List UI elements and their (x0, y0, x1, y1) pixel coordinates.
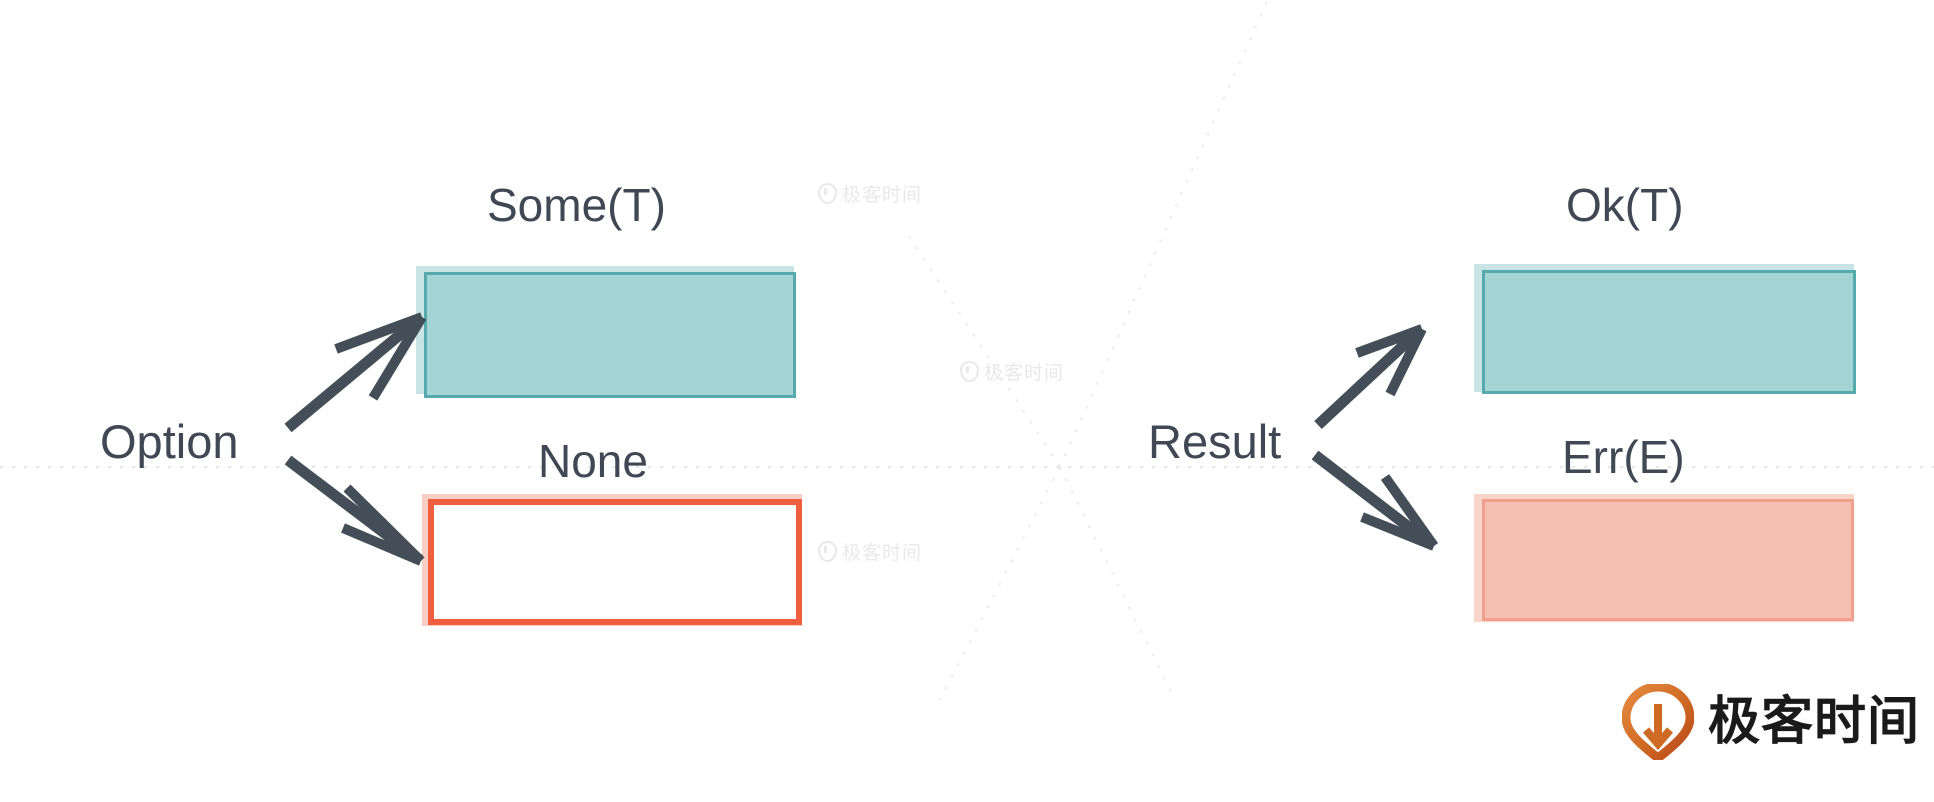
none-label: None (538, 434, 648, 488)
arrow-option-none-shaft (288, 460, 420, 560)
arrow-result-ok-barb-lower (1390, 329, 1422, 394)
watermark-guides (0, 0, 1934, 802)
brand-logo: 极客时间 (1622, 684, 1920, 760)
arrow-result-ok-shaft (1318, 330, 1420, 425)
brand-name: 极客时间 (1708, 696, 1920, 748)
arrow-option-some-barb-upper (336, 317, 422, 349)
arrow-option-none-barb-upper (347, 488, 421, 561)
ok-box (1482, 270, 1856, 394)
diagram-canvas: 极客时间 极客时间 极客时间 极客时间 (0, 0, 1934, 802)
watermark-pin-icon (818, 183, 837, 204)
arrow-result-err-barb-upper (1385, 477, 1434, 546)
arrow-option-some-barb-lower (373, 317, 422, 398)
none-box (428, 499, 802, 625)
watermark-pin-icon (960, 361, 979, 382)
arrow-layer (0, 0, 1934, 802)
option-label: Option (100, 414, 238, 469)
arrow-result-ok-barb-upper (1357, 329, 1422, 353)
arrow-option-some-shaft (288, 318, 420, 428)
watermark-text: 极客时间 (818, 538, 922, 565)
watermark-text: 极客时间 (960, 358, 1064, 385)
watermark-text: 极客时间 (818, 180, 922, 207)
some-box (424, 272, 796, 398)
watermark-layer: 极客时间 极客时间 极客时间 极客时间 (0, 0, 1934, 802)
some-label: Some(T) (487, 178, 666, 232)
arrow-result-err-shaft (1315, 455, 1432, 545)
arrow-option-none-barb-lower (343, 528, 421, 561)
err-box (1482, 499, 1854, 621)
watermark-pin-icon (818, 541, 837, 562)
arrow-result-err-barb-lower (1362, 517, 1434, 546)
result-label: Result (1148, 414, 1281, 469)
err-label: Err(E) (1562, 430, 1685, 484)
geektime-pin-icon (1622, 684, 1694, 760)
ok-label: Ok(T) (1566, 178, 1684, 232)
